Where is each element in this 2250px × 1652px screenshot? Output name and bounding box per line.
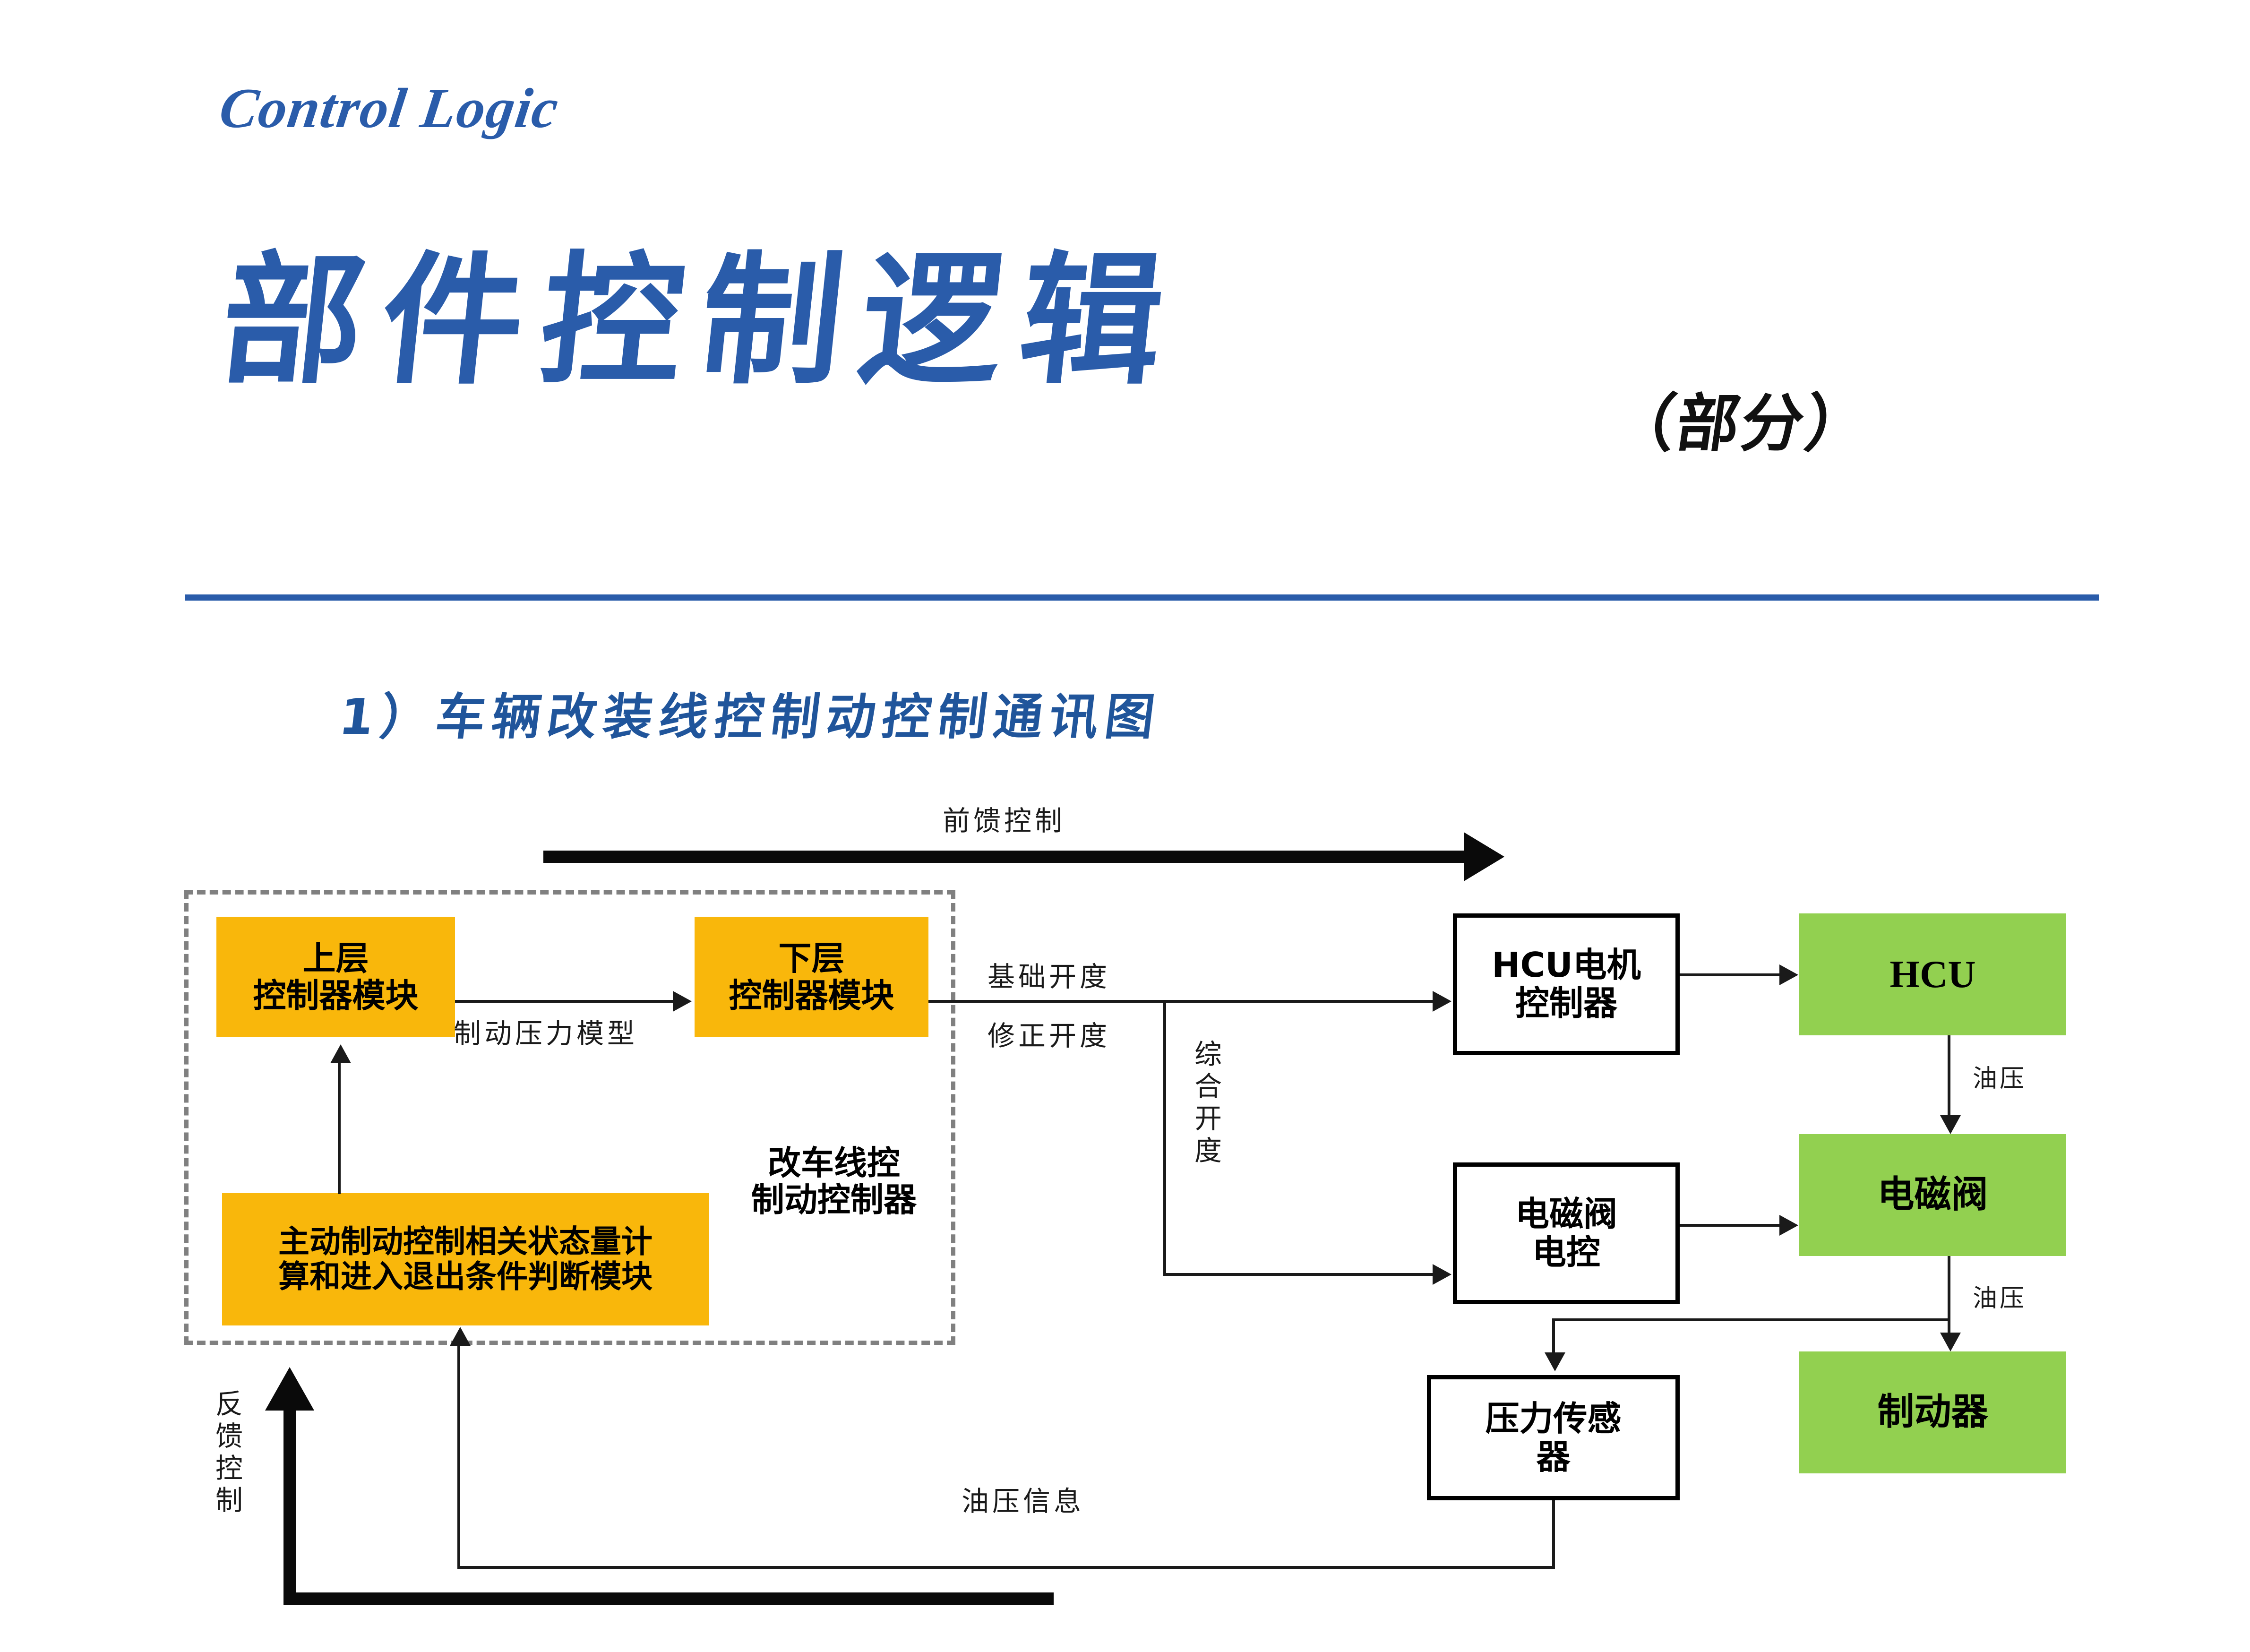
node-upper-controller[interactable]: 上层 控制器模块: [216, 917, 455, 1037]
label-corrected-opening: 修正开度: [988, 1014, 1110, 1053]
node-pressure-sensor[interactable]: 压力传感 器: [1427, 1375, 1680, 1500]
edge-sensor-down: [1552, 1500, 1555, 1569]
label-oil-pressure-1: 油压: [1973, 1058, 2027, 1094]
edge-combined-opening-vertical: [1163, 1000, 1166, 1276]
edge-valve-to-sensor-vertical: [1552, 1318, 1555, 1356]
page-title-suffix: （部分）: [1607, 373, 1877, 464]
eyebrow-logo-text: Control Logic: [215, 76, 563, 141]
node-solenoid-ecu[interactable]: 电磁阀 电控: [1453, 1162, 1680, 1304]
label-oil-pressure-info: 油压信息: [962, 1479, 1084, 1519]
node-hcu-motor-controller[interactable]: HCU电机 控制器: [1453, 913, 1680, 1055]
label-feedback-control: 反馈控制: [207, 1389, 247, 1545]
label-oil-pressure-2: 油压: [1973, 1278, 2027, 1314]
edge-feedback-to-statecalc: [457, 1344, 460, 1566]
edge-solenoidecu-to-valve-arrowhead: [1779, 1215, 1798, 1236]
feedback-arrow-shaft-vertical: [283, 1409, 296, 1592]
edge-hcu-to-valve: [1948, 1035, 1950, 1118]
node-hcu[interactable]: HCU: [1799, 913, 2066, 1035]
edge-upper-to-lower-arrowhead: [673, 991, 692, 1012]
group-label-brake-controller: 改车线控 制动控制器: [723, 1132, 945, 1231]
label-feedforward: 前馈控制: [943, 799, 1065, 838]
feedback-arrow-head: [265, 1367, 314, 1411]
edge-statecalc-to-upper-arrowhead: [330, 1044, 351, 1063]
edge-valve-to-brake-arrowhead: [1940, 1333, 1961, 1351]
node-state-calc-module[interactable]: 主动制动控制相关状态量计 算和进入退出条件判断模块: [222, 1193, 709, 1325]
edge-lower-out-bus: [928, 1000, 1446, 1003]
edge-sensor-feedback-bus: [457, 1566, 1554, 1569]
feedback-arrow-shaft-horizontal: [283, 1592, 1054, 1605]
page-title: 部件控制逻辑: [215, 250, 1188, 392]
edge-hcuctrl-to-hcu: [1680, 973, 1781, 976]
label-base-opening: 基础开度: [988, 955, 1110, 994]
label-brake-pressure-model: 制动压力模型: [454, 1011, 638, 1051]
edge-valve-to-sensor-horizontal: [1552, 1318, 1949, 1321]
node-brake[interactable]: 制动器: [1799, 1351, 2066, 1473]
section-heading: 1）车辆改装线控制动控制通讯图: [336, 677, 1166, 748]
edge-combined-opening-horizontal: [1163, 1273, 1447, 1276]
edge-feedback-to-statecalc-arrowhead: [450, 1327, 471, 1346]
label-combined-opening: 综合开度: [1186, 1040, 1226, 1238]
node-solenoid-valve[interactable]: 电磁阀: [1799, 1134, 2066, 1256]
edge-statecalc-to-upper: [338, 1061, 341, 1194]
node-lower-controller[interactable]: 下层 控制器模块: [695, 917, 928, 1037]
edge-lower-out-arrowhead: [1433, 991, 1451, 1012]
feedforward-arrow-shaft: [543, 851, 1465, 863]
edge-combined-opening-arrowhead: [1433, 1264, 1451, 1285]
edge-valve-to-sensor-arrowhead: [1545, 1352, 1565, 1371]
title-divider: [185, 594, 2099, 601]
edge-hcuctrl-to-hcu-arrowhead: [1779, 964, 1798, 985]
edge-upper-to-lower: [455, 1000, 675, 1003]
feedforward-arrow-head: [1464, 832, 1504, 881]
edge-valve-to-brake: [1948, 1256, 1950, 1336]
edge-solenoidecu-to-valve: [1680, 1224, 1781, 1227]
edge-hcu-to-valve-arrowhead: [1940, 1115, 1961, 1134]
